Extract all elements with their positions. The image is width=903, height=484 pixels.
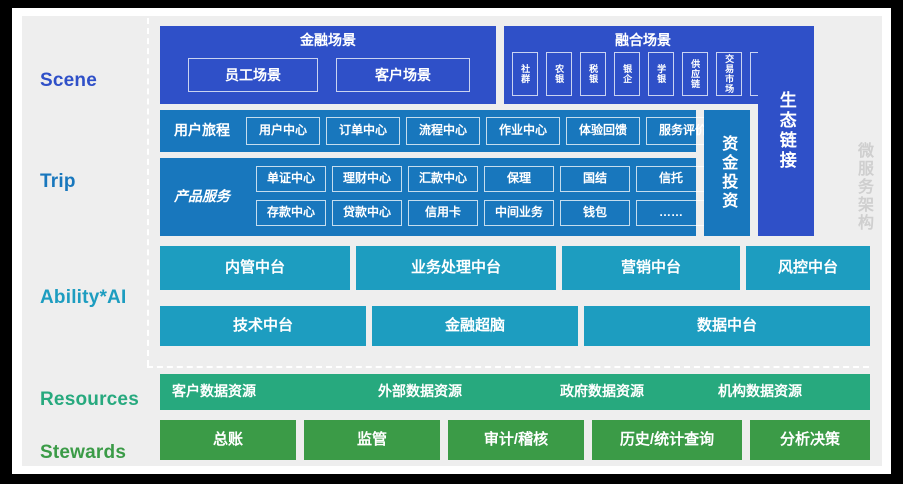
ability-r1-item-2[interactable]: 营销中台 [562,246,740,290]
scene-fusion-item-2-label: 税银 [588,64,598,84]
ability-r2-item-0[interactable]: 技术中台 [160,306,366,346]
eco-link-label: 生态链接 [776,91,796,171]
stewards-item-0[interactable]: 总账 [160,420,296,460]
ability-r2-item-1[interactable]: 金融超脑 [372,306,578,346]
resources-divider [147,366,869,368]
diagram-sheet: Scene Trip Ability*AI Resources Stewards… [12,8,891,474]
row-label-resources: Resources [40,389,139,411]
row-label-trip: Trip [40,171,76,193]
ability-r1-item-1[interactable]: 业务处理中台 [356,246,556,290]
eco-link-column[interactable]: 生态链接 [758,26,814,236]
scene-fusion-item-4-label: 学银 [656,64,666,84]
trip-product-label: 产品服务 [174,188,230,204]
trip-journey-item-2[interactable]: 流程中心 [406,117,480,145]
ability-r1-item-0[interactable]: 内管中台 [160,246,350,290]
scene-fusion-item-5-label: 供应链 [690,59,700,89]
resources-item-3[interactable]: 机构数据资源 [718,383,802,399]
scene-finance-item-1[interactable]: 客户场景 [336,58,470,92]
diagram-canvas: Scene Trip Ability*AI Resources Stewards… [22,16,882,466]
trip-product-r2-item-3[interactable]: 中间业务 [484,200,554,226]
resources-item-0[interactable]: 客户数据资源 [172,383,256,399]
fund-investment-column[interactable]: 资金投资 [704,110,750,236]
trip-product-r1-item-2[interactable]: 汇款中心 [408,166,478,192]
scene-fusion-item-0-label: 社群 [520,64,530,84]
trip-journey-item-4[interactable]: 体验回馈 [566,117,640,145]
scene-finance-group[interactable]: 金融场景 员工场景 客户场景 [160,26,496,104]
resources-item-1[interactable]: 外部数据资源 [378,383,462,399]
scene-fusion-group[interactable]: 融合场景 社群 农银 税银 银企 学银 供应链 交易市场 …… [504,26,782,104]
row-label-scene: Scene [40,70,97,92]
trip-journey-label: 用户旅程 [174,122,230,138]
scene-finance-item-0[interactable]: 员工场景 [188,58,318,92]
resources-item-2[interactable]: 政府数据资源 [560,383,644,399]
scene-fusion-item-5[interactable]: 供应链 [682,52,708,96]
row-label-stewards: Stewards [40,442,126,464]
scene-fusion-item-3[interactable]: 银企 [614,52,640,96]
trip-product-r1-item-0[interactable]: 单证中心 [256,166,326,192]
trip-product-r2-item-2[interactable]: 信用卡 [408,200,478,226]
scene-fusion-title: 融合场景 [504,32,782,48]
trip-product-r1-item-4[interactable]: 国结 [560,166,630,192]
stewards-item-2[interactable]: 审计/稽核 [448,420,584,460]
trip-product-r2-item-1[interactable]: 贷款中心 [332,200,402,226]
ability-r1-item-3[interactable]: 风控中台 [746,246,870,290]
stewards-item-3[interactable]: 历史/统计查询 [592,420,742,460]
trip-product-r2-item-4[interactable]: 钱包 [560,200,630,226]
trip-product-r2-item-5[interactable]: …… [636,200,706,226]
scene-fusion-item-4[interactable]: 学银 [648,52,674,96]
trip-product-r1-item-5[interactable]: 信托 [636,166,706,192]
scene-fusion-item-1-label: 农银 [554,64,564,84]
scene-fusion-item-2[interactable]: 税银 [580,52,606,96]
ability-r2-item-2[interactable]: 数据中台 [584,306,870,346]
diagram-frame: Scene Trip Ability*AI Resources Stewards… [0,0,903,484]
trip-product-r2-item-0[interactable]: 存款中心 [256,200,326,226]
label-divider [147,18,149,366]
fund-investment-label: 资金投资 [718,135,736,211]
scene-fusion-item-6-label: 交易市场 [724,54,734,94]
trip-journey-item-1[interactable]: 订单中心 [326,117,400,145]
microservice-architecture-note: 微服务架构 [850,112,876,262]
scene-fusion-item-0[interactable]: 社群 [512,52,538,96]
scene-fusion-item-6[interactable]: 交易市场 [716,52,742,96]
resources-band[interactable]: 客户数据资源 外部数据资源 政府数据资源 机构数据资源 [160,374,870,410]
scene-fusion-item-1[interactable]: 农银 [546,52,572,96]
scene-finance-title: 金融场景 [160,32,496,48]
trip-product-r1-item-3[interactable]: 保理 [484,166,554,192]
stewards-item-1[interactable]: 监管 [304,420,440,460]
trip-product-r1-item-1[interactable]: 理财中心 [332,166,402,192]
trip-product-group[interactable]: 产品服务 单证中心 理财中心 汇款中心 保理 国结 信托 存款中心 贷款中心 信… [160,158,696,236]
trip-journey-item-0[interactable]: 用户中心 [246,117,320,145]
scene-fusion-item-3-label: 银企 [622,64,632,84]
stewards-item-4[interactable]: 分析决策 [750,420,870,460]
row-label-ability: Ability*AI [40,287,126,309]
trip-journey-group[interactable]: 用户旅程 用户中心 订单中心 流程中心 作业中心 体验回馈 服务评价 [160,110,696,152]
trip-journey-item-3[interactable]: 作业中心 [486,117,560,145]
